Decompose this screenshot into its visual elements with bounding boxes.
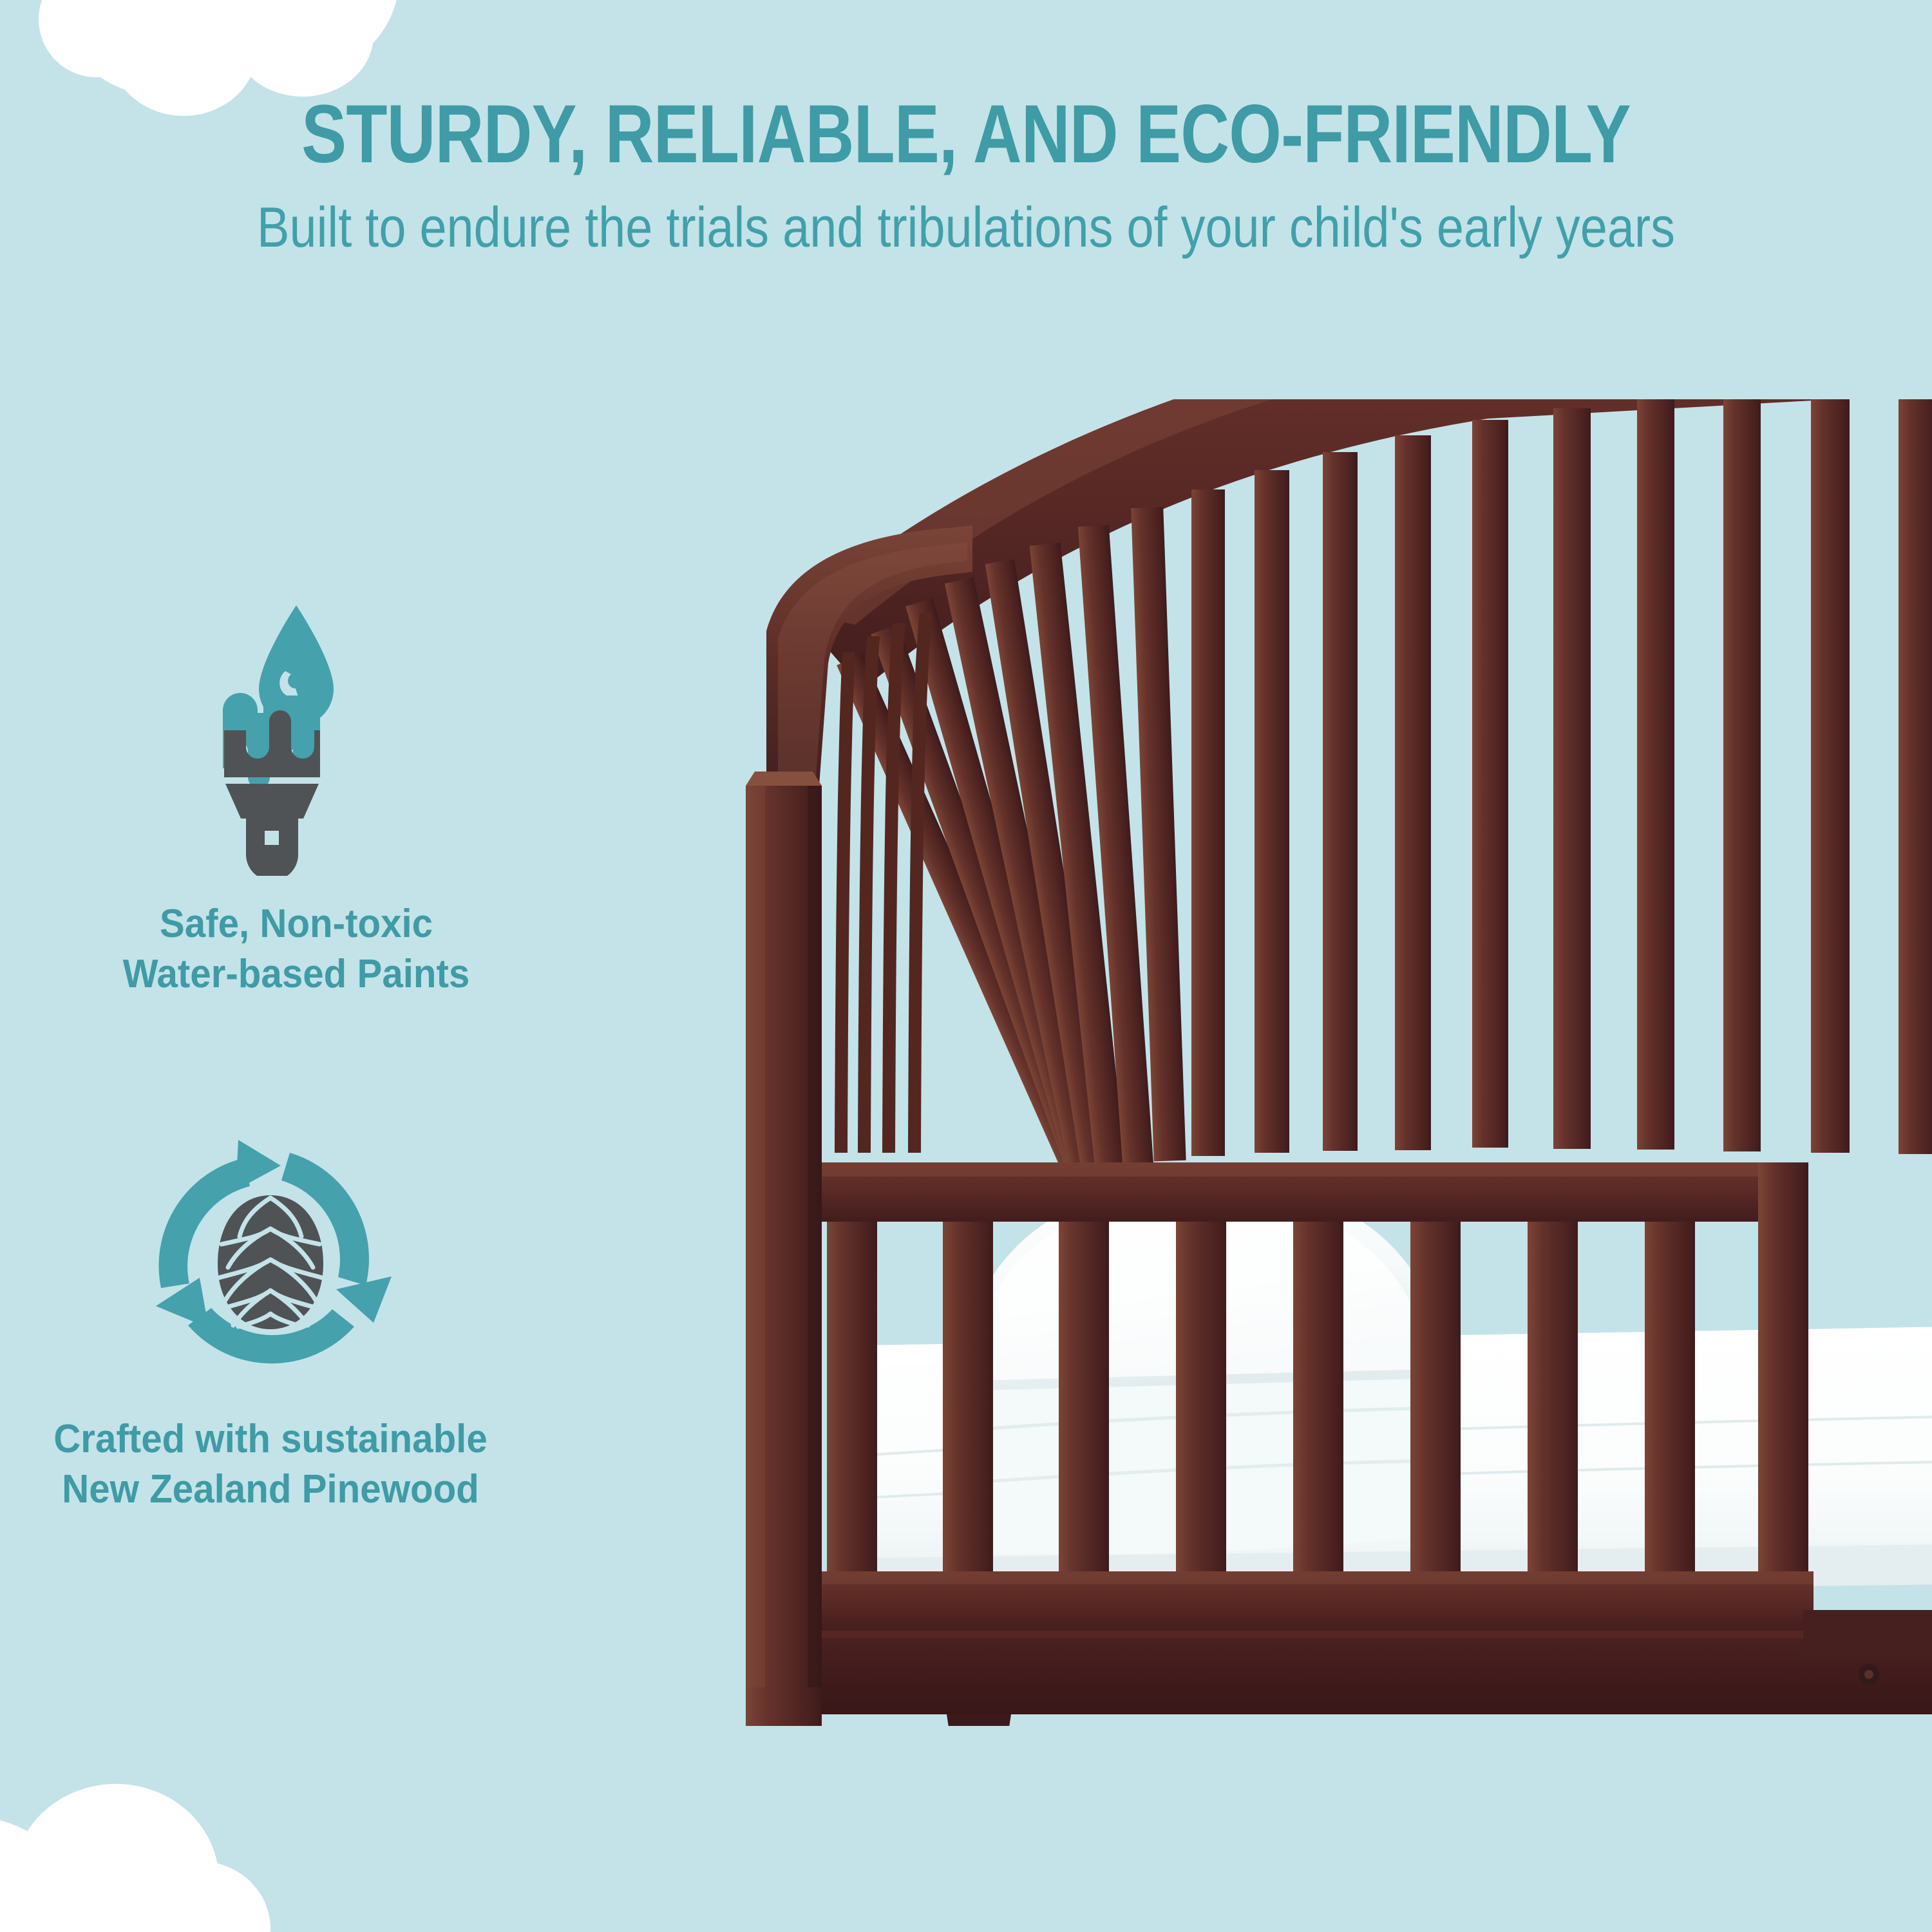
page-title: STURDY, RELIABLE, AND ECO-FRIENDLY (174, 93, 1758, 176)
toddler-daybed-photo (670, 399, 1932, 1726)
cloud-bottom-left-icon (0, 1803, 303, 1932)
header-block: STURDY, RELIABLE, AND ECO-FRIENDLY Built… (0, 93, 1932, 256)
infographic-canvas: STURDY, RELIABLE, AND ECO-FRIENDLY Built… (0, 0, 1932, 1932)
feature-safe-paints: Safe, Non-toxic Water-based Paints (0, 599, 631, 999)
paint-brush-water-drop-icon (200, 599, 393, 876)
feature-caption-safe-paints: Safe, Non-toxic Water-based Paints (0, 899, 611, 999)
page-subtitle: Built to endure the trials and tribulati… (135, 199, 1797, 256)
feature-caption-sustainable-wood: Crafted with sustainable New Zealand Pin… (0, 1414, 585, 1515)
daybed-illustration (670, 399, 1932, 1726)
recycle-pinecone-icon (142, 1133, 399, 1391)
feature-sustainable-wood: Crafted with sustainable New Zealand Pin… (0, 1133, 605, 1515)
